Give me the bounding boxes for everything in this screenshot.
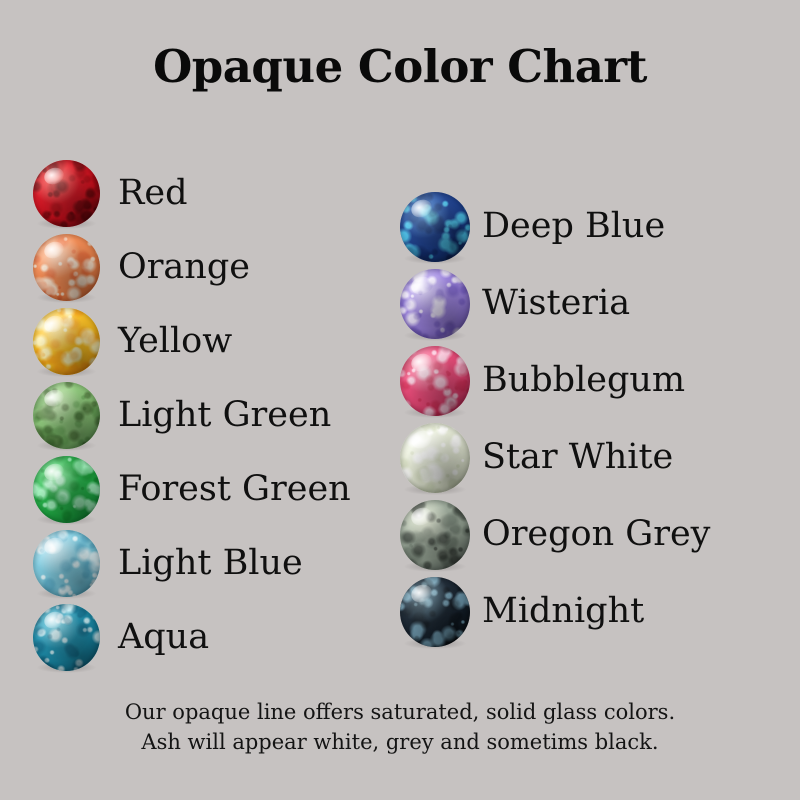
bead-swatch (33, 456, 100, 523)
color-swatch-row: Light Blue (33, 526, 351, 600)
bead-swatch (400, 423, 470, 493)
color-name-label: Wisteria (482, 286, 630, 321)
footer-line-2: Ash will appear white, grey and sometims… (0, 727, 800, 757)
bead-rim (33, 160, 100, 227)
bead-swatch (400, 269, 470, 339)
bead-swatch (33, 160, 100, 227)
bead-swatch (33, 530, 100, 597)
swatch-column-right: Deep BlueWisteriaBubblegumStar WhiteOreg… (400, 188, 710, 650)
color-swatch-row: Orange (33, 230, 351, 304)
bead-rim (400, 269, 470, 339)
bead-rim (33, 308, 100, 375)
bead-rim (33, 234, 100, 301)
bead-sphere (33, 530, 100, 597)
footer-note: Our opaque line offers saturated, solid … (0, 697, 800, 758)
color-swatch-row: Red (33, 156, 351, 230)
bead-rim (33, 530, 100, 597)
bead-sphere (400, 500, 470, 570)
bead-rim (400, 500, 470, 570)
color-swatch-row: Yellow (33, 304, 351, 378)
color-swatch-row: Oregon Grey (400, 496, 710, 573)
bead-swatch (400, 192, 470, 262)
color-swatch-row: Wisteria (400, 265, 710, 342)
bead-sphere (33, 234, 100, 301)
bead-swatch (33, 382, 100, 449)
bead-rim (400, 192, 470, 262)
color-swatch-row: Deep Blue (400, 188, 710, 265)
bead-rim (33, 604, 100, 671)
bead-sphere (400, 192, 470, 262)
bead-rim (400, 346, 470, 416)
bead-sphere (33, 160, 100, 227)
bead-rim (400, 577, 470, 647)
color-chart-page: Opaque Color Chart RedOrangeYellowLight … (0, 0, 800, 800)
color-name-label: Yellow (118, 324, 232, 359)
color-swatch-row: Bubblegum (400, 342, 710, 419)
color-name-label: Forest Green (118, 472, 351, 507)
footer-line-1: Our opaque line offers saturated, solid … (0, 697, 800, 727)
bead-swatch (400, 500, 470, 570)
bead-rim (33, 382, 100, 449)
color-swatch-row: Aqua (33, 600, 351, 674)
color-name-label: Aqua (118, 620, 209, 655)
bead-swatch (400, 346, 470, 416)
color-name-label: Oregon Grey (482, 517, 710, 552)
bead-rim (400, 423, 470, 493)
page-title: Opaque Color Chart (0, 42, 800, 92)
color-name-label: Star White (482, 440, 673, 475)
bead-sphere (33, 382, 100, 449)
swatch-column-left: RedOrangeYellowLight GreenForest GreenLi… (33, 156, 351, 674)
color-name-label: Orange (118, 250, 250, 285)
color-name-label: Midnight (482, 594, 644, 629)
bead-rim (33, 456, 100, 523)
color-swatch-row: Star White (400, 419, 710, 496)
bead-swatch (33, 308, 100, 375)
bead-sphere (400, 423, 470, 493)
bead-swatch (33, 234, 100, 301)
color-name-label: Red (118, 176, 187, 211)
bead-sphere (400, 346, 470, 416)
color-swatch-row: Light Green (33, 378, 351, 452)
bead-sphere (33, 456, 100, 523)
bead-swatch (33, 604, 100, 671)
color-name-label: Bubblegum (482, 363, 685, 398)
color-swatch-row: Forest Green (33, 452, 351, 526)
bead-swatch (400, 577, 470, 647)
bead-sphere (400, 577, 470, 647)
color-name-label: Light Green (118, 398, 331, 433)
bead-sphere (400, 269, 470, 339)
bead-sphere (33, 308, 100, 375)
bead-sphere (33, 604, 100, 671)
color-name-label: Deep Blue (482, 209, 665, 244)
color-name-label: Light Blue (118, 546, 303, 581)
color-swatch-row: Midnight (400, 573, 710, 650)
